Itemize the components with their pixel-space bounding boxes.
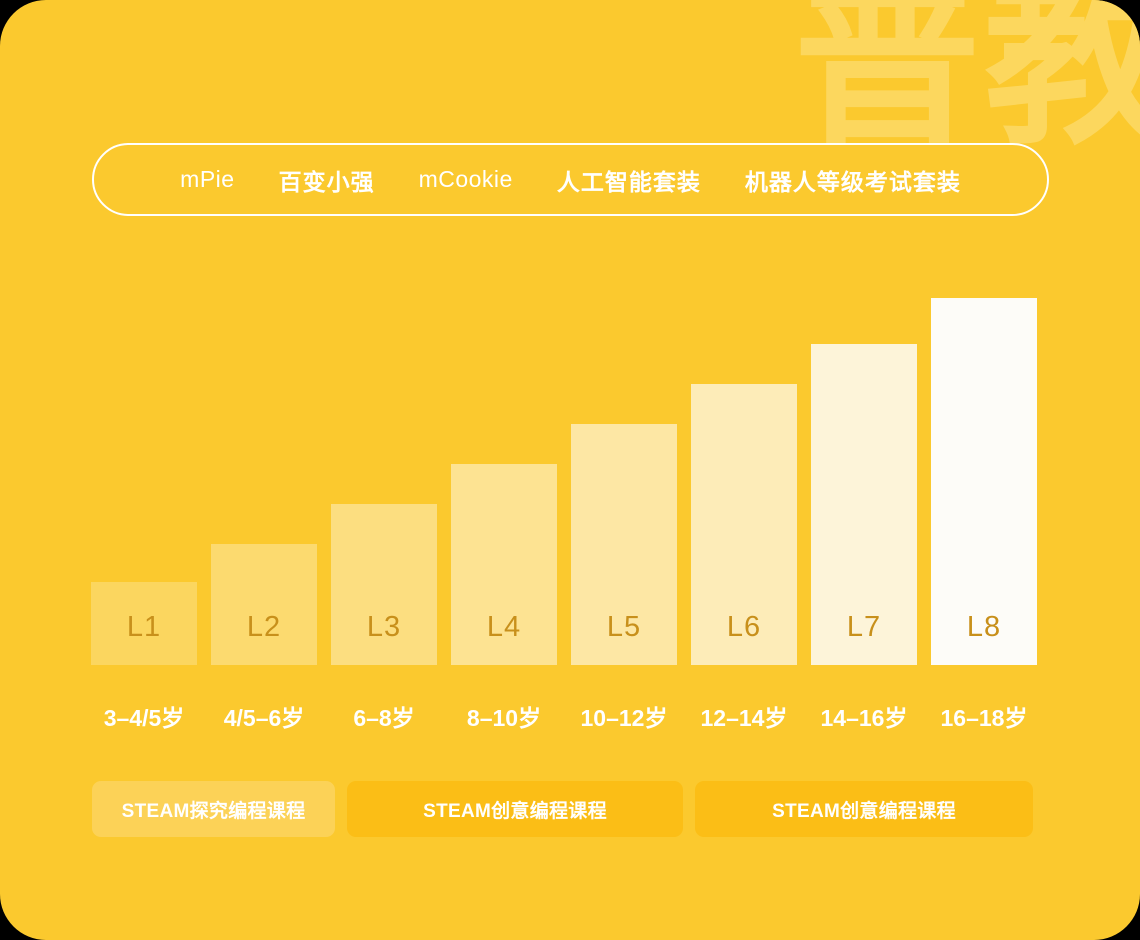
bar-label-l2: L2: [247, 611, 281, 644]
bar-l1[interactable]: L1: [91, 582, 197, 665]
age-label-2: 6–8岁: [324, 699, 444, 733]
product-nav-pill[interactable]: mPie百变小强mCookie人工智能套装机器人等级考试套装: [92, 143, 1049, 216]
course-button-1[interactable]: STEAM创意编程课程: [347, 781, 683, 837]
course-button-2[interactable]: STEAM创意编程课程: [695, 781, 1033, 837]
nav-item-3[interactable]: 人工智能套装: [557, 163, 701, 197]
bar-l7[interactable]: L7: [811, 344, 917, 665]
age-label-0: 3–4/5岁: [84, 699, 204, 733]
nav-item-2[interactable]: mCookie: [419, 166, 513, 193]
nav-item-4[interactable]: 机器人等级考试套装: [745, 163, 961, 197]
bar-label-l8: L8: [967, 611, 1001, 644]
bar-label-l1: L1: [127, 611, 161, 644]
bar-label-l7: L7: [847, 611, 881, 644]
age-label-6: 14–16岁: [804, 699, 924, 733]
bar-l2[interactable]: L2: [211, 544, 317, 665]
level-bar-chart: L1L2L3L4L5L6L7L8: [91, 290, 1049, 665]
course-button-0[interactable]: STEAM探究编程课程: [92, 781, 335, 837]
bar-label-l5: L5: [607, 611, 641, 644]
watermark-text: 普教: [794, 0, 1140, 156]
age-label-7: 16–18岁: [924, 699, 1044, 733]
age-label-4: 10–12岁: [564, 699, 684, 733]
age-label-5: 12–14岁: [684, 699, 804, 733]
course-button-row[interactable]: STEAM探究编程课程STEAM创意编程课程STEAM创意编程课程: [92, 781, 1049, 837]
nav-item-0[interactable]: mPie: [180, 166, 234, 193]
bar-label-l4: L4: [487, 611, 521, 644]
age-label-1: 4/5–6岁: [204, 699, 324, 733]
bar-l5[interactable]: L5: [571, 424, 677, 665]
product-level-card: 普教 mPie百变小强mCookie人工智能套装机器人等级考试套装 L1L2L3…: [0, 0, 1140, 940]
bar-label-l3: L3: [367, 611, 401, 644]
age-label-3: 8–10岁: [444, 699, 564, 733]
bar-l8[interactable]: L8: [931, 298, 1037, 665]
age-range-axis: 3–4/5岁4/5–6岁6–8岁8–10岁10–12岁12–14岁14–16岁1…: [91, 699, 1049, 733]
bar-l4[interactable]: L4: [451, 464, 557, 665]
bar-l3[interactable]: L3: [331, 504, 437, 665]
nav-item-1[interactable]: 百变小强: [279, 163, 375, 197]
bar-label-l6: L6: [727, 611, 761, 644]
bar-l6[interactable]: L6: [691, 384, 797, 665]
